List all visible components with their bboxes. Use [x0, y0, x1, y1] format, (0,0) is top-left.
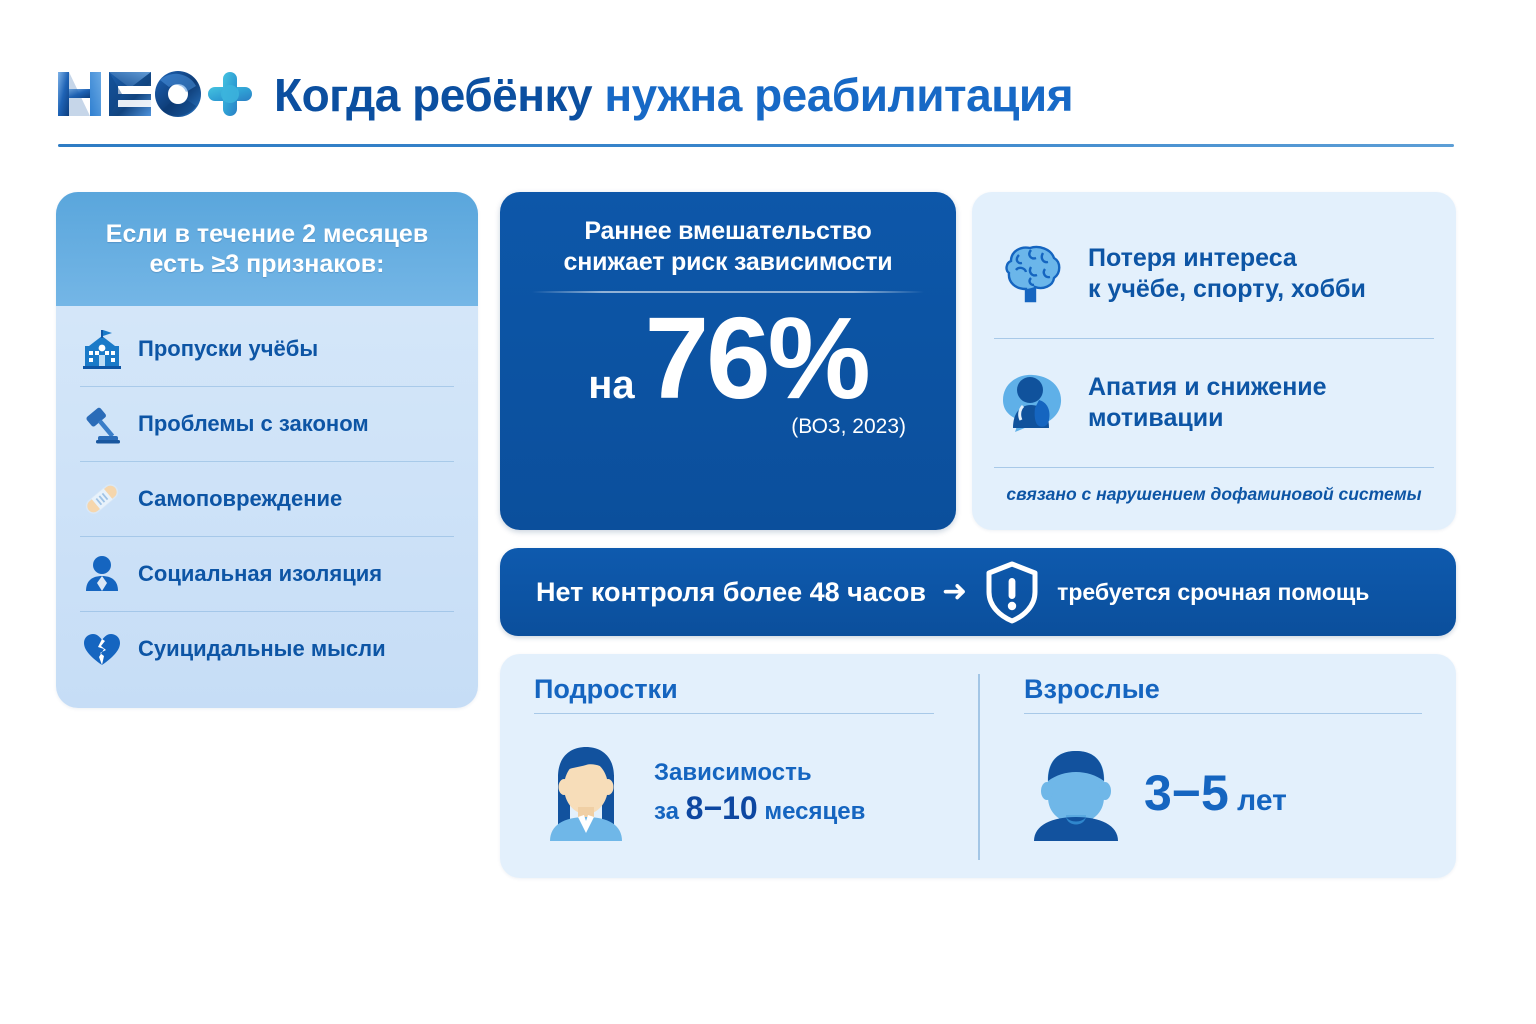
age-comparison-card: Подростки Зависимость — [500, 654, 1456, 878]
logo-letter-n — [58, 72, 101, 116]
warning-signs-header-line1: Если в течение 2 месяцев — [106, 219, 428, 250]
adults-duration-value: 3−5 — [1144, 765, 1229, 821]
stat-value: 76% — [645, 303, 868, 413]
list-item: Апатия и снижение мотивации — [994, 339, 1434, 468]
stat-heading-line2: снижает риск зависимости — [526, 247, 930, 278]
list-item: Суицидальные мысли — [80, 612, 454, 686]
urgent-help-banner: Нет контроля более 48 часов ➜ требуется … — [500, 548, 1456, 636]
logo-plus-icon — [208, 72, 252, 116]
stat-heading: Раннее вмешательство снижает риск зависи… — [526, 216, 930, 277]
teens-text-suffix: месяцев — [758, 798, 866, 825]
list-item-label: Самоповреждение — [138, 486, 342, 511]
brain-icon — [994, 236, 1070, 312]
list-item-label: Потеря интереса к учёбе, спорту, хобби — [1088, 243, 1366, 306]
adults-duration-suffix: лет — [1229, 784, 1287, 817]
teens-body: Зависимость за 8−10 месяцев — [534, 714, 934, 860]
neo-plus-logo — [56, 66, 256, 122]
urgent-main-text: Нет контроля более 48 часов — [536, 577, 926, 608]
stat-value-row: на 76% — [526, 303, 930, 413]
teens-title: Подростки — [534, 674, 934, 714]
urgent-tail-text: требуется срочная помощь — [1057, 579, 1369, 606]
warning-signs-list: Пропуски учёбы Проблемы с законом — [56, 306, 478, 696]
list-item-label: Апатия и снижение мотивации — [1088, 372, 1327, 435]
list-item-label: Проблемы с законом — [138, 411, 369, 436]
page-header: Когда ребёнку нужна реабилитация — [56, 46, 1456, 142]
sign-line1: Потеря интереса — [1088, 243, 1366, 274]
teens-duration-value: 8−10 — [686, 790, 758, 826]
list-item: Пропуски учёбы — [80, 312, 454, 387]
warning-signs-header: Если в течение 2 месяцев есть ≥3 признак… — [56, 192, 478, 306]
warning-signs-header-line2: есть ≥3 признаков: — [150, 249, 385, 280]
teens-column: Подростки Зависимость — [534, 674, 978, 860]
page-title-strong: Когда ребёнку — [274, 69, 592, 121]
adults-duration: 3−5 лет — [1144, 768, 1287, 818]
apathy-person-icon — [994, 365, 1070, 441]
teens-text: Зависимость за 8−10 месяцев — [654, 758, 865, 828]
warning-signs-card: Если в течение 2 месяцев есть ≥3 признак… — [56, 192, 478, 708]
shield-alert-icon — [983, 560, 1041, 624]
school-icon — [80, 327, 124, 371]
teen-girl-avatar — [534, 741, 638, 845]
early-intervention-stat-card: Раннее вмешательство снижает риск зависи… — [500, 192, 956, 530]
adults-column: Взрослые 3−5 лет — [978, 674, 1422, 860]
teens-text-prefix: за — [654, 798, 686, 825]
page-title: Когда ребёнку нужна реабилитация — [274, 72, 1073, 118]
signs-footnote: связано с нарушением дофаминовой системы — [994, 468, 1434, 505]
stat-heading-line1: Раннее вмешательство — [526, 216, 930, 247]
arrow-right-icon: ➜ — [942, 577, 967, 607]
gavel-icon — [80, 402, 124, 446]
teens-text-line1: Зависимость — [654, 758, 865, 788]
page-title-light: нужна реабилитация — [604, 69, 1073, 121]
adults-body: 3−5 лет — [1024, 714, 1422, 860]
list-item: Потеря интереса к учёбе, спорту, хобби — [994, 210, 1434, 339]
sign-line2: мотивации — [1088, 403, 1327, 434]
list-item: Социальная изоляция — [80, 537, 454, 612]
list-item: Проблемы с законом — [80, 387, 454, 462]
broken-heart-icon — [80, 627, 124, 671]
adult-man-avatar — [1024, 741, 1128, 845]
list-item-label: Пропуски учёбы — [138, 336, 318, 361]
logo-letter-e — [109, 72, 151, 116]
list-item-label: Социальная изоляция — [138, 561, 382, 586]
sign-line1: Апатия и снижение — [1088, 372, 1327, 403]
bandage-icon — [80, 477, 124, 521]
sign-line2: к учёбе, спорту, хобби — [1088, 274, 1366, 305]
list-item: Самоповреждение — [80, 462, 454, 537]
dopamine-signs-card: Потеря интереса к учёбе, спорту, хобби А… — [972, 192, 1456, 530]
person-icon — [80, 552, 124, 596]
logo-letter-o — [155, 71, 201, 117]
teens-text-line2: за 8−10 месяцев — [654, 788, 865, 828]
list-item-label: Суицидальные мысли — [138, 636, 386, 661]
stat-prefix: на — [588, 363, 634, 408]
header-divider — [58, 144, 1454, 147]
adults-title: Взрослые — [1024, 674, 1422, 714]
